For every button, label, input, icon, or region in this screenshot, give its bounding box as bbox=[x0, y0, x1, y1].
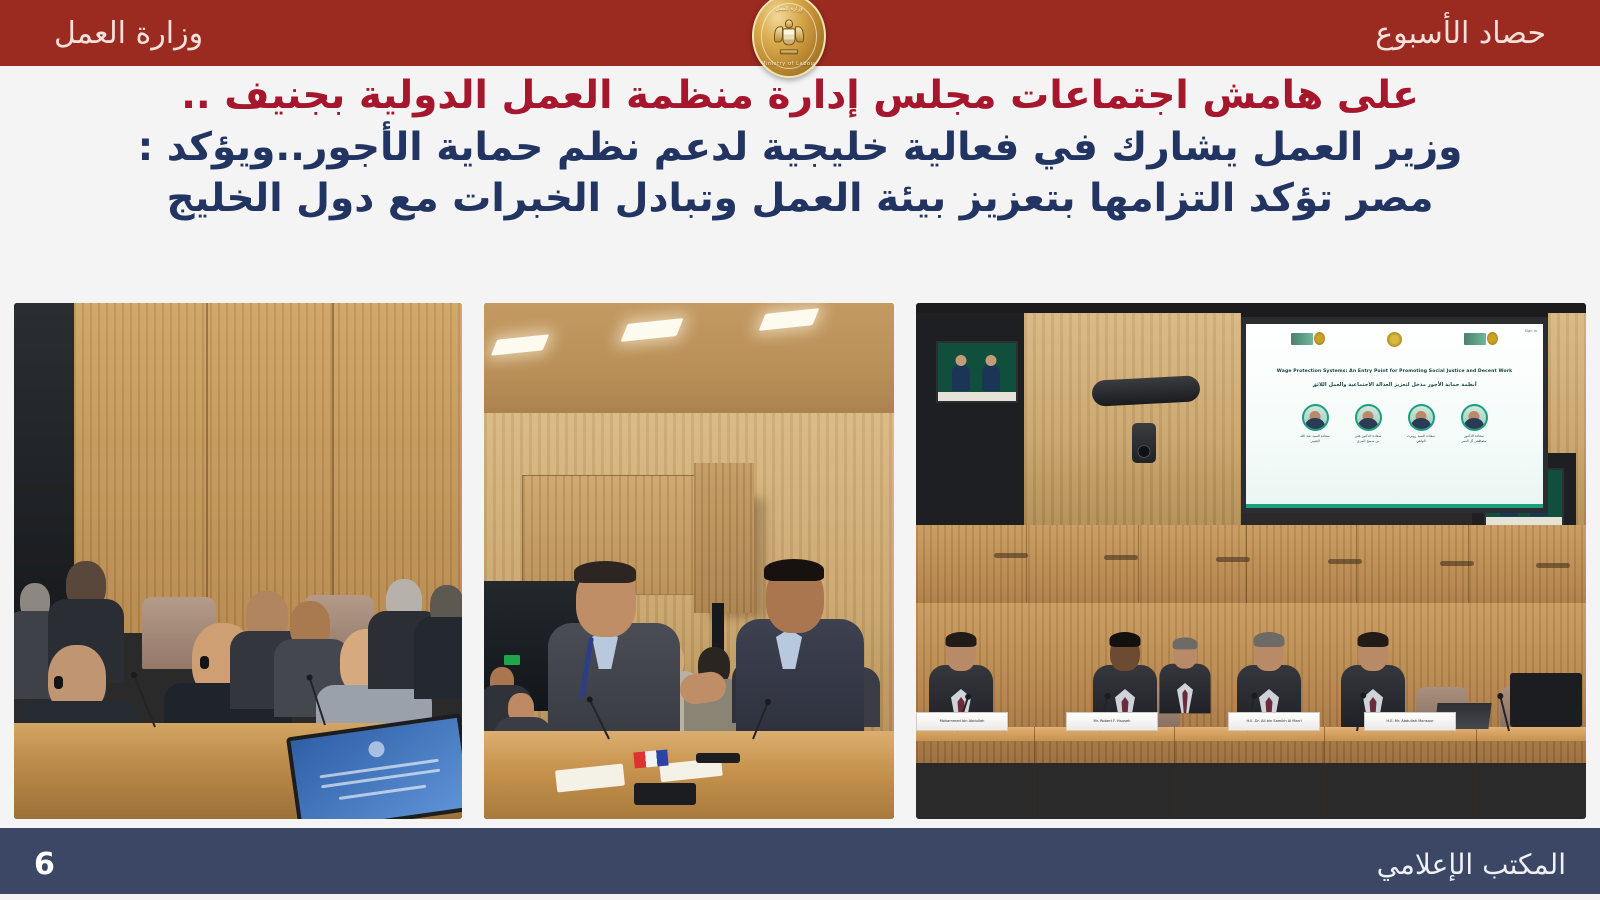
page-number: 6 bbox=[34, 847, 55, 882]
headline-block: على هامش اجتماعات مجلس إدارة منظمة العمل… bbox=[0, 72, 1600, 223]
gcc-logo-icon bbox=[1387, 332, 1402, 347]
headline-line-3: مصر تؤكد التزامها بتعزيز بيئة العمل وتبا… bbox=[24, 175, 1576, 223]
attendee-body bbox=[414, 617, 462, 699]
panelist-name: سعادة السيد عبد الله العتيبي bbox=[1300, 434, 1330, 443]
panelist-name: سعادة السيد روبرت الواهي bbox=[1406, 434, 1436, 443]
panel-desk bbox=[916, 727, 1586, 819]
ceiling bbox=[484, 303, 894, 423]
wall-camera-icon bbox=[1132, 423, 1156, 463]
nameplate: H.E. Dr. Ali bin Samikh Al Marri bbox=[1228, 712, 1320, 731]
exit-sign-icon bbox=[504, 655, 520, 665]
ministry-logo-icon bbox=[1291, 331, 1325, 348]
media-office-label: المكتب الإعلامي bbox=[1377, 848, 1566, 881]
projection-screen: Sign in Wage Protection Systems: An Entr… bbox=[1241, 319, 1548, 513]
nameplate-text: H.E. Dr. Ali bin Samikh Al Marri bbox=[1246, 719, 1301, 723]
nameplate-text: H.E. Mr. Abdullah Mansour bbox=[1386, 719, 1433, 723]
nameplate: Mohammed bin Abdullah bbox=[916, 712, 1008, 731]
slide-header: حصاد الأسبوع وزارة العمل Ministry of Lab… bbox=[0, 0, 1600, 66]
slide-title-arabic: أنظمة حماية الأجور مدخل لتعزيز العدالة ا… bbox=[1254, 382, 1535, 389]
seal-arabic-text: وزارة العمل bbox=[754, 6, 824, 12]
wall-panel-upper bbox=[1024, 313, 1241, 525]
monitor-left bbox=[936, 341, 1018, 403]
eagle-of-saladin-icon bbox=[776, 18, 802, 52]
presentation-slide: حصاد الأسبوع وزارة العمل Ministry of Lab… bbox=[0, 0, 1600, 900]
photo-conference-panel-with-screen: Sign in Wage Protection Systems: An Entr… bbox=[916, 303, 1586, 819]
header-left-label: حصاد الأسبوع bbox=[1375, 16, 1546, 51]
slide-footer: المكتب الإعلامي 6 bbox=[0, 828, 1600, 900]
seal-english-text: Ministry of Labour bbox=[754, 61, 824, 67]
nameplate: H.E. Mr. Abdullah Mansour bbox=[1364, 712, 1456, 731]
headline-line-2: وزير العمل يشارك في فعالية خليجية لدعم ن… bbox=[24, 124, 1576, 172]
slide-panelist: سعادة الدكتور مصطفى آل التمر bbox=[1459, 404, 1489, 443]
headline-line-1: على هامش اجتماعات مجلس إدارة منظمة العمل… bbox=[24, 72, 1576, 120]
slide-panelist: سعادة الدكتور علي بن سميخ المري bbox=[1353, 404, 1383, 443]
footer-bottom-strip bbox=[0, 894, 1600, 900]
nameplate-text: Mohammed bin Abdullah bbox=[940, 719, 985, 723]
panelist-avatar bbox=[1302, 404, 1329, 431]
photo-audience-ilo-hall bbox=[14, 303, 462, 819]
panelist-name: سعادة الدكتور علي بن سميخ المري bbox=[1353, 434, 1383, 443]
nameplate-text: Mr. Robert F. Househ bbox=[1094, 719, 1131, 723]
wall-column bbox=[694, 463, 754, 613]
slide-logo-row bbox=[1246, 331, 1543, 348]
ministry-seal-logo-icon: وزارة العمل Ministry of Labour bbox=[750, 0, 828, 78]
seal-disc: وزارة العمل Ministry of Labour bbox=[752, 0, 826, 78]
earpiece-icon bbox=[54, 676, 63, 689]
panelist-avatar bbox=[1408, 404, 1435, 431]
desk-monitor bbox=[1510, 673, 1582, 727]
organiser-logo-icon bbox=[1464, 331, 1498, 348]
panelist-avatar bbox=[1461, 404, 1488, 431]
slide-panelist-row: سعادة الدكتور مصطفى آل التمر سعادة السيد… bbox=[1246, 404, 1543, 443]
desk-microphone-base bbox=[696, 753, 740, 763]
table-flag-icon bbox=[633, 750, 668, 769]
slide-panelist: سعادة السيد عبد الله العتيبي bbox=[1300, 404, 1330, 443]
slide-panelist: سعادة السيد روبرت الواهي bbox=[1406, 404, 1436, 443]
nameplate: Mr. Robert F. Househ bbox=[1066, 712, 1158, 731]
tablet-device bbox=[634, 783, 696, 805]
earpiece-icon bbox=[200, 656, 209, 669]
presentation-slide-content: Sign in Wage Protection Systems: An Entr… bbox=[1246, 324, 1543, 508]
panelist-avatar bbox=[1355, 404, 1382, 431]
slide-title-english: Wage Protection Systems: An Entry Point … bbox=[1254, 369, 1535, 375]
photo-handshake-delegates bbox=[484, 303, 894, 819]
photo-strip: Sign in Wage Protection Systems: An Entr… bbox=[14, 303, 1586, 819]
panelist-name: سعادة الدكتور مصطفى آل التمر bbox=[1459, 434, 1489, 443]
panelist-person bbox=[1159, 637, 1212, 714]
header-right-label: وزارة العمل bbox=[54, 16, 203, 51]
